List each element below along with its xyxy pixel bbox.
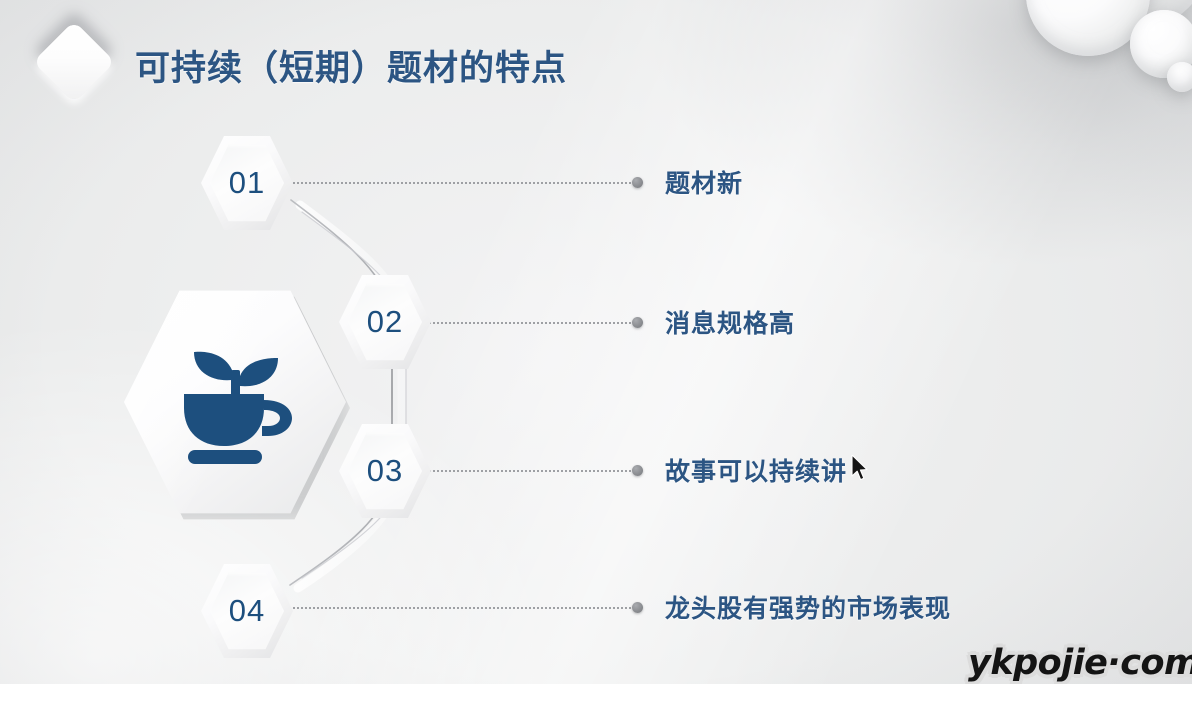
slide-header: 可持续（短期）题材的特点 — [0, 0, 1192, 120]
bottom-white-band — [0, 684, 1192, 720]
step-hexagon-01-number: 01 — [201, 135, 293, 231]
step-label-01: 题材新 — [665, 164, 743, 200]
step-label-02: 消息规格高 — [665, 304, 795, 340]
connector-line-3 — [424, 470, 635, 474]
connector-line-4 — [293, 607, 635, 611]
connector-line-1 — [293, 182, 635, 186]
step-hexagon-02-number: 02 — [339, 274, 431, 370]
connector-dot-4 — [632, 602, 643, 613]
step-label-04: 龙头股有强势的市场表现 — [665, 589, 951, 625]
connector-dot-2 — [632, 317, 643, 328]
step-label-03: 故事可以持续讲 — [665, 452, 847, 488]
site-watermark: ykpojie·com — [968, 643, 1192, 683]
connector-dot-3 — [632, 465, 643, 476]
mouse-arrow-cursor — [851, 455, 869, 482]
connector-dot-1 — [632, 177, 643, 188]
page-title: 可持续（短期）题材的特点 — [135, 40, 567, 91]
diamond-bullet-icon — [33, 21, 115, 103]
connector-line-2 — [424, 322, 635, 326]
herbal-tea-cup-icon — [176, 336, 296, 466]
step-hexagon-03-number: 03 — [339, 423, 431, 519]
presentation-slide: 可持续（短期）题材的特点 — [0, 0, 1192, 684]
step-hexagon-04-number: 04 — [201, 563, 293, 659]
